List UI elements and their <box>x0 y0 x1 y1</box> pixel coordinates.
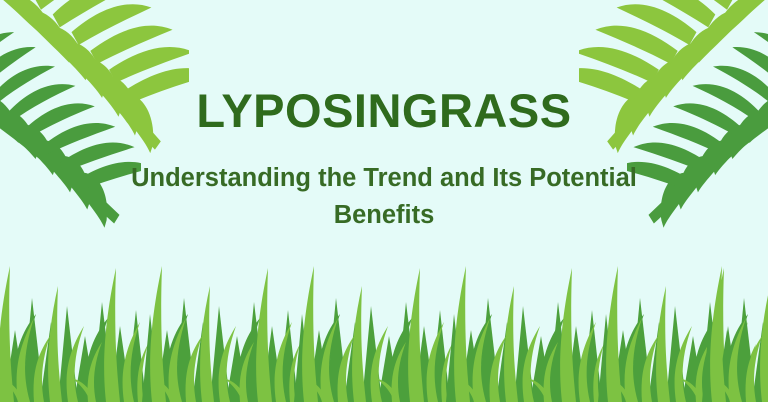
page-subtitle: Understanding the Trend and Its Potentia… <box>99 160 669 232</box>
page-title: LYPOSINGRASS <box>196 86 571 135</box>
banner-graphic: LYPOSINGRASS Understanding the Trend and… <box>0 0 768 402</box>
text-block: LYPOSINGRASS Understanding the Trend and… <box>0 0 768 402</box>
